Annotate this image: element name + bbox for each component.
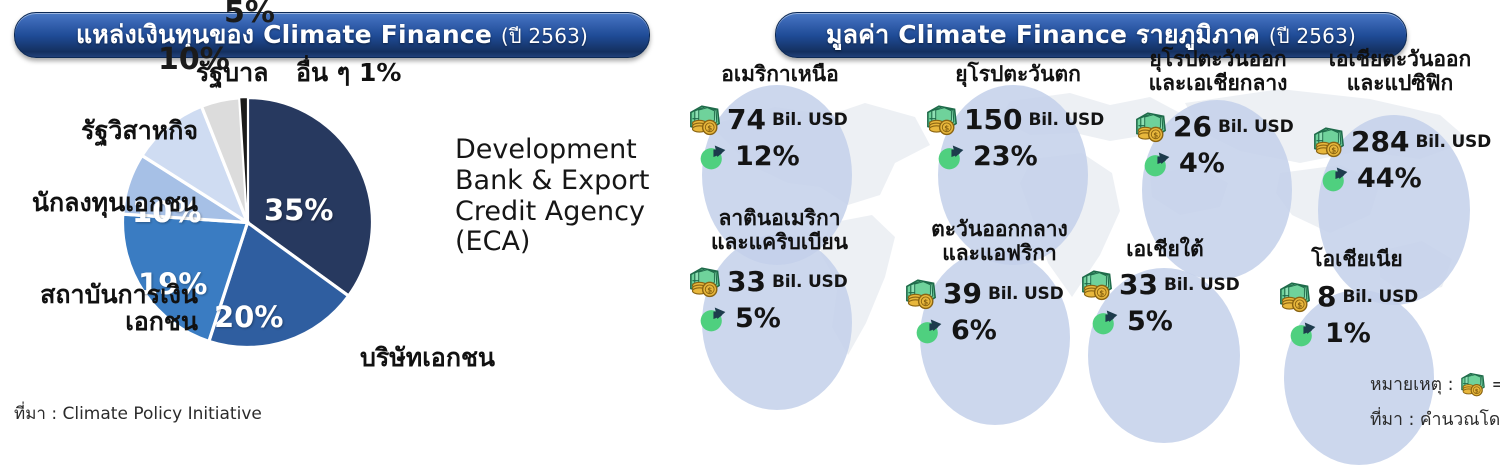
region-unit: Bil. USD — [1342, 287, 1418, 307]
pie-share-icon — [936, 142, 966, 172]
region-value: 33 — [727, 265, 766, 298]
pie-share-icon — [698, 142, 728, 172]
region-unit: Bil. USD — [1164, 275, 1240, 295]
region-share-row: 1% — [1288, 318, 1371, 349]
pie-label-state-enterprise: รัฐวิสาหกิจ — [18, 118, 198, 145]
region-share-row: 5% — [1090, 306, 1173, 337]
region-unit: Bil. USD — [772, 272, 848, 292]
money-icon — [1132, 110, 1170, 143]
region-share-row: 23% — [936, 141, 1038, 172]
region-value-row: 33 Bil. USD — [686, 265, 848, 298]
pie-label-financial-institutions: สถาบันการเงินเอกชน — [8, 282, 198, 335]
pie-share-icon — [1142, 149, 1172, 179]
region-value: 39 — [943, 277, 982, 310]
pie-share-icon — [914, 316, 944, 346]
left-source-note: ที่มา : Climate Policy Initiative — [14, 400, 262, 427]
right-source-note: ที่มา : คำนวณโดยฝ่ายวิจัยธุรกิจ EXIM BAN… — [1370, 405, 1500, 433]
region-share: 23% — [973, 141, 1038, 172]
region-label: เอเชียตะวันออก — [1305, 48, 1495, 70]
region-unit: Bil. USD — [772, 110, 848, 130]
region-label: โอเชียเนีย — [1272, 248, 1442, 270]
pie-share-icon — [1320, 164, 1350, 194]
pie-label-private-company: บริษัทเอกชน — [360, 345, 495, 372]
note-money-text: = มูลค่า Climate Finance ของภูมิภาค — [1492, 370, 1500, 398]
region-value-row: 39 Bil. USD — [902, 277, 1064, 310]
region-label: เอเชียใต้ — [1080, 238, 1250, 260]
region-share: 44% — [1357, 163, 1422, 194]
region-value-row: 8 Bil. USD — [1276, 280, 1418, 313]
region-value: 150 — [964, 103, 1022, 136]
right-legend-note: หมายเหตุ : = มูลค่า Climate Finance ของภ… — [1370, 370, 1500, 398]
region-value-row: 284 Bil. USD — [1310, 125, 1491, 158]
pie-share-icon — [1288, 319, 1318, 349]
region-unit: Bil. USD — [1218, 117, 1294, 137]
region-label: ยุโรปตะวันออก — [1123, 48, 1313, 70]
region-unit: Bil. USD — [988, 284, 1064, 304]
region-label: อเมริกาเหนือ — [690, 63, 870, 85]
climate-finance-regions-panel: มูลค่า Climate Finance รายภูมิภาค (ปี 25… — [680, 0, 1500, 441]
note-prefix: หมายเหตุ : — [1370, 370, 1454, 398]
region-share-row: 12% — [698, 141, 800, 172]
region-value-row: 33 Bil. USD — [1078, 268, 1240, 301]
region-share: 6% — [951, 315, 997, 346]
region-unit: Bil. USD — [1415, 132, 1491, 152]
region-unit: Bil. USD — [1028, 110, 1104, 130]
region-value-row: 150 Bil. USD — [923, 103, 1104, 136]
money-icon — [686, 103, 724, 136]
region-label-line2: และแอฟริกา — [902, 242, 1097, 264]
region-share-row: 5% — [698, 303, 781, 334]
money-icon-legend — [1458, 371, 1488, 397]
region-share-row: 44% — [1320, 163, 1422, 194]
money-icon — [1310, 125, 1348, 158]
region-label-line2: และแคริบเบียน — [682, 231, 877, 253]
region-label: ตะวันออกกลาง — [902, 218, 1097, 240]
money-icon — [1276, 280, 1314, 313]
region-share-row: 6% — [914, 315, 997, 346]
region-value: 284 — [1351, 125, 1409, 158]
region-label-line2: และแปซิฟิก — [1305, 72, 1495, 94]
region-share: 4% — [1179, 148, 1225, 179]
region-value: 8 — [1317, 280, 1336, 313]
region-value: 26 — [1173, 110, 1212, 143]
left-title-banner: แหล่งเงินทุนของ Climate Finance (ปี 2563… — [14, 12, 650, 58]
region-value: 33 — [1119, 268, 1158, 301]
climate-finance-sources-panel: แหล่งเงินทุนของ Climate Finance (ปี 2563… — [0, 0, 680, 441]
pie-share-icon — [698, 304, 728, 334]
money-icon — [923, 103, 961, 136]
pie-label-other: อื่น ๆ 1% — [296, 60, 401, 87]
region-value-row: 26 Bil. USD — [1132, 110, 1294, 143]
region-share: 12% — [735, 141, 800, 172]
region-share: 1% — [1325, 318, 1371, 349]
region-share: 5% — [1127, 306, 1173, 337]
pie-label-government: รัฐบาล — [196, 60, 268, 87]
pie-label-private-investors: นักลงทุนเอกชน — [28, 190, 198, 217]
region-value-row: 74 Bil. USD — [686, 103, 848, 136]
money-icon — [1078, 268, 1116, 301]
region-share-row: 4% — [1142, 148, 1225, 179]
region-label-line2: และเอเชียกลาง — [1123, 72, 1313, 94]
region-label: ยุโรปตะวันตก — [928, 63, 1108, 85]
money-icon — [902, 277, 940, 310]
region-label: ลาตินอเมริกา — [682, 207, 877, 229]
money-icon — [686, 265, 724, 298]
left-title-text: แหล่งเงินทุนของ Climate Finance (ปี 2563… — [76, 15, 588, 55]
pie-share-icon — [1090, 307, 1120, 337]
pie-label-eca: Development Bank & Export Credit Agency … — [455, 135, 670, 258]
region-value: 74 — [727, 103, 766, 136]
region-share: 5% — [735, 303, 781, 334]
